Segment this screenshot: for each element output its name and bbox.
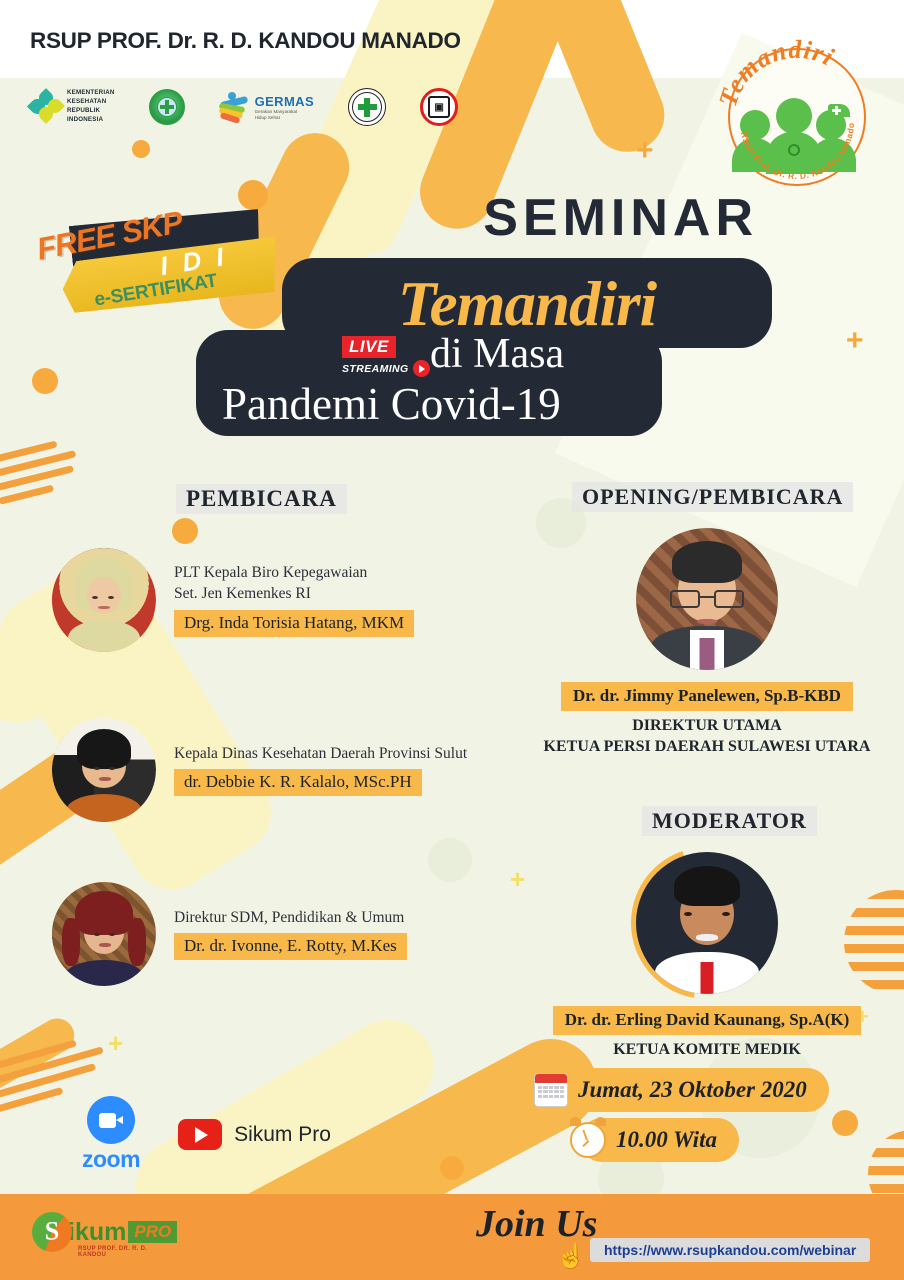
- temandiri-brand-logo: Temandiri RSUP Prof. Dr. R. D. Kandou Ma…: [718, 38, 876, 196]
- streaming-label: STREAMING: [342, 363, 409, 375]
- germas-title: GERMAS: [255, 94, 314, 109]
- moderator-avatar: [636, 852, 778, 994]
- speaker-3-name: Dr. dr. Ivonne, E. Rotty, M.Kes: [174, 933, 407, 960]
- persi-logo: [348, 88, 386, 126]
- germas-logo: GERMAS Gerakan Masyarakat Hidup Sehat: [219, 92, 314, 122]
- idi-mark-icon: ▣: [428, 96, 450, 118]
- speaker-1-photo: [52, 548, 156, 652]
- section-heading-pembicara: PEMBICARA: [176, 484, 347, 514]
- persi-cross-icon: [358, 98, 377, 117]
- event-time: 10.00 Wita: [616, 1127, 717, 1153]
- streaming-row: STREAMING: [342, 360, 430, 377]
- play-icon: [413, 360, 430, 377]
- join-us-text: Join Us: [476, 1202, 597, 1246]
- event-time-row: 10.00 Wita: [570, 1118, 829, 1162]
- sikum-mark-icon: [32, 1212, 72, 1252]
- speaker-3-role: Direktur SDM, Pendidikan & Umum: [174, 908, 407, 929]
- moderator-title: KETUA KOMITE MEDIK: [512, 1040, 902, 1061]
- kemenkes-label: KEMENTERIAN KESEHATAN REPUBLIK INDONESIA: [67, 89, 115, 125]
- opening-speaker-avatar: [636, 528, 778, 670]
- event-datetime: Jumat, 23 Oktober 2020 10.00 Wita: [534, 1068, 829, 1168]
- clock-icon: [570, 1122, 606, 1158]
- dot-orange-8: [832, 1110, 858, 1136]
- dot-orange-2: [32, 368, 58, 394]
- speaker-1-role-line2: Set. Jen Kemenkes RI: [174, 584, 414, 605]
- logo-subtitle-arc: RSUP Prof. Dr. R. D. Kandou Manado: [739, 122, 856, 181]
- calendar-icon: [534, 1073, 568, 1107]
- speaker-2-role: Kepala Dinas Kesehatan Daerah Provinsi S…: [174, 744, 467, 765]
- section-heading-moderator: MODERATOR: [642, 806, 817, 836]
- dot-orange-3: [172, 518, 198, 544]
- speaker-3-avatar: [52, 882, 156, 986]
- plus-icon-4: +: [108, 1030, 123, 1056]
- speaker-2-avatar: [52, 718, 156, 822]
- dot-orange-7: [440, 1156, 464, 1180]
- platform-logos: zoom Sikum Pro: [82, 1096, 331, 1173]
- kemenkes-line4: INDONESIA: [67, 116, 115, 125]
- opening-speaker-card: Dr. dr. Jimmy Panelewen, Sp.B-KBD DIREKT…: [512, 528, 902, 758]
- speaker-2-name: dr. Debbie K. R. Kalalo, MSc.PH: [174, 769, 422, 796]
- kemenkes-mark-icon: [30, 91, 62, 123]
- opening-speaker-title-1: DIREKTUR UTAMA: [512, 716, 902, 737]
- seminar-word: SEMINAR: [483, 188, 758, 248]
- hospital-name: RSUP PROF. Dr. R. D. KANDOU MANADO: [30, 28, 461, 54]
- svg-text:RSUP Prof. Dr. R. D. Kandou Ma: RSUP Prof. Dr. R. D. Kandou Manado: [739, 122, 856, 181]
- dot-orange-6: [132, 140, 150, 158]
- hand-pointer-icon: ☝: [556, 1242, 586, 1271]
- speaker-1-text: PLT Kepala Biro Kepegawaian Set. Jen Kem…: [174, 563, 414, 637]
- title-di-masa: di Masa: [430, 330, 564, 378]
- green-seal-logo: [149, 89, 185, 125]
- stripe-group-left-top: [0, 436, 86, 515]
- partner-logos-row: KEMENTERIAN KESEHATAN REPUBLIK INDONESIA…: [30, 88, 458, 126]
- speaker-1-name: Drg. Inda Torisia Hatang, MKM: [174, 610, 414, 637]
- logo-arc-text-svg: Temandiri RSUP Prof. Dr. R. D. Kandou Ma…: [718, 38, 876, 196]
- speaker-row-2: Kepala Dinas Kesehatan Daerah Provinsi S…: [52, 718, 467, 822]
- event-date-pill: Jumat, 23 Oktober 2020: [542, 1068, 829, 1112]
- kemenkes-logo: KEMENTERIAN KESEHATAN REPUBLIK INDONESIA: [30, 89, 115, 125]
- speaker-3-photo: [52, 882, 156, 986]
- speaker-1-avatar: [52, 548, 156, 652]
- zoom-camera-icon: [87, 1096, 135, 1144]
- section-heading-opening-pembicara: OPENING/PEMBICARA: [572, 482, 853, 512]
- sikum-subtitle: RSUP PROF. DR. R. D. KANDOU: [78, 1246, 177, 1258]
- footer-bar: ikum PRO RSUP PROF. DR. R. D. KANDOU Joi…: [0, 1194, 904, 1280]
- opening-speaker-name: Dr. dr. Jimmy Panelewen, Sp.B-KBD: [561, 682, 853, 711]
- plus-icon-2: +: [846, 326, 864, 356]
- live-label: LIVE: [342, 336, 396, 358]
- speaker-2-photo: [52, 718, 156, 822]
- zoom-logo[interactable]: zoom: [82, 1096, 140, 1173]
- event-date: Jumat, 23 Oktober 2020: [578, 1077, 807, 1103]
- speaker-3-text: Direktur SDM, Pendidikan & Umum Dr. dr. …: [174, 908, 407, 961]
- youtube-channel-label: Sikum Pro: [234, 1123, 331, 1147]
- germas-sub2: Hidup Sehat: [255, 115, 314, 121]
- sikum-word: ikum: [68, 1218, 126, 1247]
- opening-speaker-title-2: KETUA PERSI DAERAH SULAWESI UTARA: [512, 737, 902, 758]
- moderator-card: Dr. dr. Erling David Kaunang, Sp.A(K) KE…: [512, 852, 902, 1061]
- live-streaming-badge: LIVE STREAMING: [342, 336, 430, 377]
- speaker-2-text: Kepala Dinas Kesehatan Daerah Provinsi S…: [174, 744, 467, 797]
- plus-icon-1: +: [636, 136, 654, 166]
- free-skp-badge: FREE SKP I D I e-SERTIFIKAT: [32, 196, 282, 326]
- kemenkes-line2: KESEHATAN: [67, 98, 115, 107]
- speaker-1-role-line1: PLT Kepala Biro Kepegawaian: [174, 563, 414, 584]
- moderator-photo: [636, 852, 778, 994]
- germas-mark-icon: [219, 92, 251, 122]
- logo-name-arc: Temandiri: [718, 38, 839, 110]
- dot-pale-1: [428, 838, 472, 882]
- speaker-1-role: PLT Kepala Biro Kepegawaian Set. Jen Kem…: [174, 563, 414, 605]
- sikum-pro-logo: ikum PRO RSUP PROF. DR. R. D. KANDOU: [32, 1212, 177, 1252]
- seminar-poster: + + + + + RSUP PROF. Dr. R. D. KANDOU MA…: [0, 0, 904, 1280]
- title-pandemi-covid: Pandemi Covid-19: [222, 378, 561, 430]
- moderator-name: Dr. dr. Erling David Kaunang, Sp.A(K): [553, 1006, 862, 1035]
- youtube-play-icon: [178, 1119, 222, 1150]
- zoom-label: zoom: [82, 1146, 140, 1173]
- kemenkes-line1: KEMENTERIAN: [67, 89, 115, 98]
- youtube-logo[interactable]: Sikum Pro: [178, 1119, 331, 1150]
- idi-logo: ▣: [420, 88, 458, 126]
- speaker-row-1: PLT Kepala Biro Kepegawaian Set. Jen Kem…: [52, 548, 414, 652]
- seal-cross-icon: [160, 100, 174, 114]
- opening-speaker-photo: [636, 528, 778, 670]
- sikum-pro-tag: PRO: [128, 1221, 177, 1243]
- speaker-row-3: Direktur SDM, Pendidikan & Umum Dr. dr. …: [52, 882, 407, 986]
- kemenkes-line3: REPUBLIK: [67, 107, 115, 116]
- germas-label: GERMAS Gerakan Masyarakat Hidup Sehat: [255, 94, 314, 121]
- webinar-url[interactable]: https://www.rsupkandou.com/webinar: [590, 1238, 870, 1262]
- event-date-row: Jumat, 23 Oktober 2020: [534, 1068, 829, 1112]
- svg-text:Temandiri: Temandiri: [718, 38, 839, 110]
